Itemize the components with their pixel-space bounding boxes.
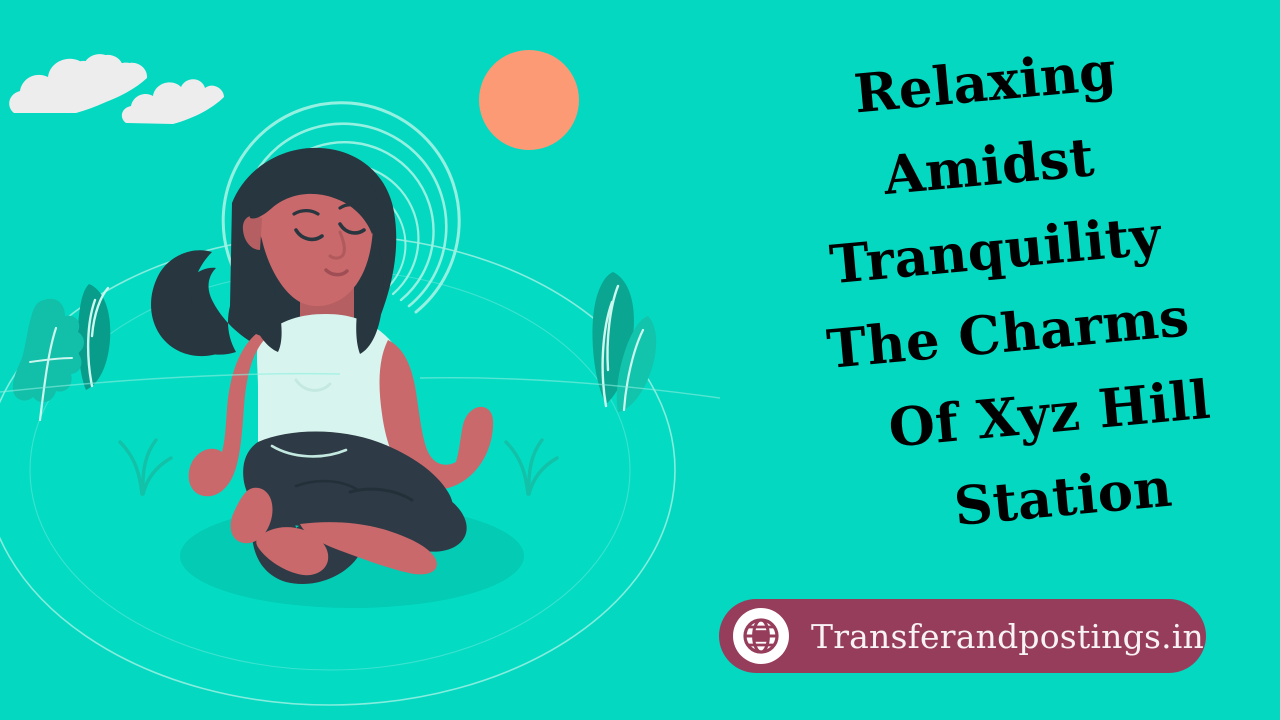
meditation-illustration (0, 0, 720, 720)
title-line-2: Amidst (725, 101, 1252, 232)
title-line-3: Tranquility (731, 185, 1260, 316)
title-line-6: Station (843, 436, 1280, 559)
page-title: Relaxing Amidst Tranquility The Charms O… (720, 18, 1280, 583)
site-badge[interactable]: Transferandpostings.in (719, 599, 1206, 673)
title-line-4: The Charms (748, 268, 1267, 398)
site-badge-label: Transferandpostings.in (811, 617, 1204, 656)
globe-icon (733, 608, 789, 664)
title-line-5: Of Xyz Hill (824, 352, 1276, 476)
title-line-1: Relaxing (725, 18, 1244, 148)
poster-canvas: Relaxing Amidst Tranquility The Charms O… (0, 0, 1280, 720)
sun (479, 50, 579, 150)
